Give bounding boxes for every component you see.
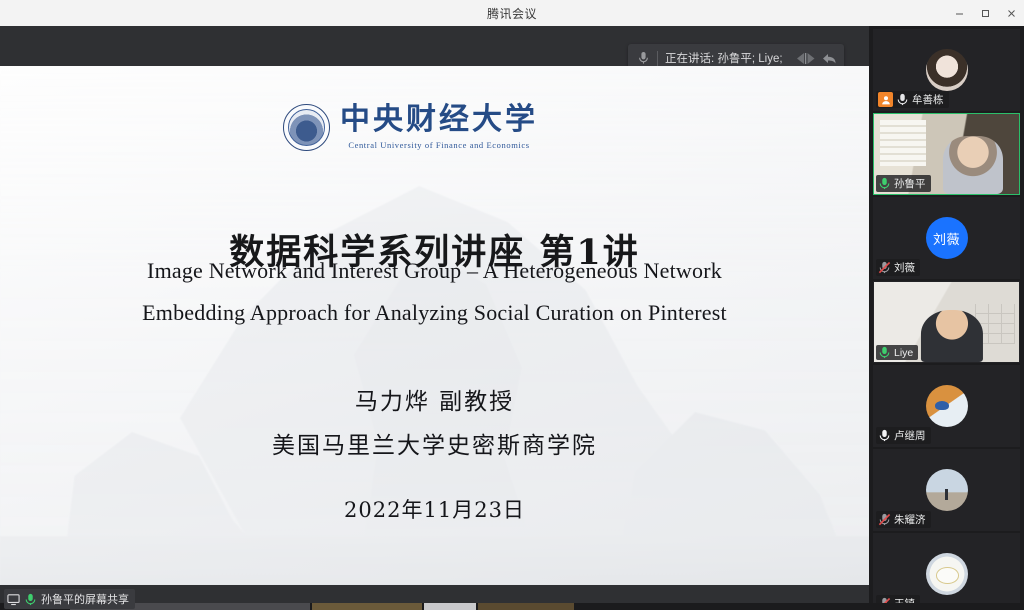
mic-muted-icon xyxy=(878,261,891,274)
university-seal-icon xyxy=(283,104,330,151)
slide-subtitle-line1: Image Network and Interest Group – A Het… xyxy=(0,258,869,284)
window-controls xyxy=(946,0,1024,26)
os-taskbar[interactable] xyxy=(0,603,1024,610)
mic-unmuted-icon xyxy=(878,177,891,190)
slide-affiliation: 美国马里兰大学史密斯商学院 xyxy=(0,426,869,460)
university-name-cn: 中央财经大学 xyxy=(340,105,538,135)
participant-tile[interactable]: 朱耀济 xyxy=(873,449,1020,531)
minimize-button[interactable] xyxy=(946,0,972,26)
avatar xyxy=(926,385,968,427)
screen-share-status: 孙鲁平的屏幕共享 xyxy=(4,589,135,609)
microphone-icon xyxy=(24,593,37,606)
chevrons-icon xyxy=(795,51,817,66)
participant-label: 刘薇 xyxy=(876,259,920,276)
mic-muted-icon xyxy=(878,513,891,526)
avatar xyxy=(926,49,968,91)
participant-name: 刘薇 xyxy=(894,260,915,275)
participant-name: Liye xyxy=(894,347,913,359)
participant-name: 朱耀济 xyxy=(894,512,926,527)
participant-label: 卢继周 xyxy=(876,427,931,444)
stage-toolbar: 正在讲话: 孙鲁平; Liye; xyxy=(0,26,869,66)
avatar: 刘薇 xyxy=(926,217,968,259)
presentation-slide[interactable]: 中央财经大学 Central University of Finance and… xyxy=(0,66,869,585)
mic-unmuted-icon xyxy=(878,346,891,359)
participant-tile[interactable]: 孙鲁平 xyxy=(873,113,1020,195)
university-logo: 中央财经大学 Central University of Finance and… xyxy=(283,104,538,151)
university-name-en: Central University of Finance and Econom… xyxy=(348,140,529,150)
minimize-icon xyxy=(954,8,965,19)
participant-tile[interactable]: 牟善栋 xyxy=(873,29,1020,111)
slide-subtitle-line2: Embedding Approach for Analyzing Social … xyxy=(0,300,869,326)
host-badge-icon xyxy=(878,92,893,107)
participant-tile[interactable]: 王镇 xyxy=(873,533,1020,610)
taskbar-item[interactable] xyxy=(478,603,574,610)
participant-rail[interactable]: 牟善栋 孙鲁平 刘薇 xyxy=(869,26,1024,610)
slide-date: 2022年11月23日 xyxy=(0,494,869,524)
tencent-meeting-window: 腾讯会议 xyxy=(0,0,1024,610)
participant-label: 朱耀济 xyxy=(876,511,931,528)
participant-tile[interactable]: Liye xyxy=(873,281,1020,363)
mic-unmuted-icon xyxy=(896,93,909,106)
participant-name: 孙鲁平 xyxy=(894,176,926,191)
participant-tile[interactable]: 卢继周 xyxy=(873,365,1020,447)
participant-tile[interactable]: 刘薇 刘薇 xyxy=(873,197,1020,279)
shared-screen-stage: 正在讲话: 孙鲁平; Liye; xyxy=(0,26,869,610)
participant-label: 孙鲁平 xyxy=(876,175,931,192)
close-icon xyxy=(1006,8,1017,19)
participant-label: 牟善栋 xyxy=(876,91,949,108)
monitor-icon xyxy=(7,593,20,606)
taskbar-item[interactable] xyxy=(312,603,422,610)
maximize-button[interactable] xyxy=(972,0,998,26)
arrow-back-icon xyxy=(821,51,838,66)
avatar xyxy=(926,469,968,511)
pill-divider xyxy=(657,51,658,66)
speaking-label: 正在讲话: 孙鲁平; Liye; xyxy=(665,50,783,66)
title-bar: 腾讯会议 xyxy=(0,0,1024,26)
window-title: 腾讯会议 xyxy=(487,5,537,22)
participant-label: Liye xyxy=(876,345,918,360)
avatar xyxy=(926,553,968,595)
toolbar-arrow-group[interactable] xyxy=(795,51,838,66)
participant-name: 牟善栋 xyxy=(912,92,944,107)
screen-share-label: 孙鲁平的屏幕共享 xyxy=(41,591,129,607)
taskbar-item[interactable] xyxy=(424,603,476,610)
maximize-icon xyxy=(980,8,991,19)
microphone-icon xyxy=(634,49,652,67)
slide-speaker-name: 马力烨 副教授 xyxy=(0,382,869,416)
close-button[interactable] xyxy=(998,0,1024,26)
mic-unmuted-icon xyxy=(878,429,891,442)
participant-name: 卢继周 xyxy=(894,428,926,443)
